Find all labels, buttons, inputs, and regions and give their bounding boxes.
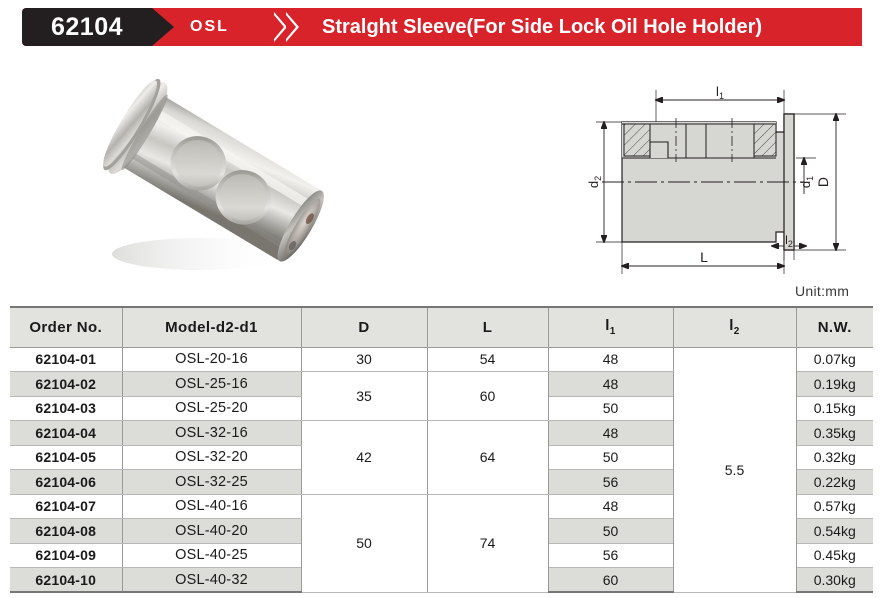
cell-order-no: 62104-06 (10, 470, 122, 495)
specification-table: Order No. Model-d2-d1 D L l1 l2 N.W. 621… (10, 306, 873, 593)
dim-label-L: L (700, 249, 708, 265)
cell-nw: 0.45kg (796, 543, 873, 568)
cell-nw: 0.07kg (796, 347, 873, 372)
col-header-order-no: Order No. (10, 307, 122, 347)
badge-arrow-point (152, 8, 174, 46)
cell-nw: 0.54kg (796, 519, 873, 544)
cell-d: 50 (301, 494, 427, 592)
col-header-l: L (427, 307, 548, 347)
cell-l1: 50 (548, 396, 673, 421)
table-body: 62104-01OSL-20-163054485.50.07kg62104-02… (10, 347, 873, 592)
dim-label-l1: l1 (716, 84, 724, 101)
cell-l1: 48 (548, 494, 673, 519)
cell-d: 35 (301, 372, 427, 421)
cell-nw: 0.19kg (796, 372, 873, 397)
cell-model: OSL-40-32 (122, 568, 301, 593)
cell-model: OSL-32-20 (122, 445, 301, 470)
cell-l2: 5.5 (673, 347, 796, 592)
cell-order-no: 62104-10 (10, 568, 122, 593)
cell-model: OSL-25-16 (122, 372, 301, 397)
cell-order-no: 62104-07 (10, 494, 122, 519)
cell-l1: 48 (548, 347, 673, 372)
product-photo (70, 58, 370, 290)
dim-label-d2: d2 (588, 176, 603, 188)
cell-l: 54 (427, 347, 548, 372)
col-header-l2: l2 (673, 307, 796, 347)
technical-drawing: l1 d2 d1 D L l2 (588, 82, 883, 282)
dim-label-D: D (815, 177, 831, 187)
cell-l1: 56 (548, 543, 673, 568)
cell-order-no: 62104-08 (10, 519, 122, 544)
cell-model: OSL-32-25 (122, 470, 301, 495)
chevron-separator-icon (274, 12, 314, 42)
table-header-row: Order No. Model-d2-d1 D L l1 l2 N.W. (10, 307, 873, 347)
cell-nw: 0.22kg (796, 470, 873, 495)
product-series: OSL (190, 8, 229, 46)
product-header-bar: 62104 OSL Stralght Sleeve(For Side Lock … (22, 8, 862, 46)
cell-d: 42 (301, 421, 427, 495)
cell-l1: 50 (548, 519, 673, 544)
cell-l1: 48 (548, 372, 673, 397)
cell-nw: 0.30kg (796, 568, 873, 593)
cell-d: 30 (301, 347, 427, 372)
cell-l: 64 (427, 421, 548, 495)
cell-l: 74 (427, 494, 548, 592)
unit-label: Unit:mm (795, 283, 849, 299)
cell-model: OSL-32-16 (122, 421, 301, 446)
cell-l: 60 (427, 372, 548, 421)
cell-l1: 48 (548, 421, 673, 446)
dim-label-d1: d1 (798, 176, 815, 188)
cell-order-no: 62104-05 (10, 445, 122, 470)
cell-order-no: 62104-01 (10, 347, 122, 372)
cell-model: OSL-40-16 (122, 494, 301, 519)
cell-model: OSL-40-20 (122, 519, 301, 544)
cell-model: OSL-25-20 (122, 396, 301, 421)
cell-order-no: 62104-03 (10, 396, 122, 421)
cell-order-no: 62104-04 (10, 421, 122, 446)
cell-nw: 0.15kg (796, 396, 873, 421)
cell-nw: 0.35kg (796, 421, 873, 446)
col-header-l1: l1 (548, 307, 673, 347)
table-row: 62104-01OSL-20-163054485.50.07kg (10, 347, 873, 372)
cell-order-no: 62104-09 (10, 543, 122, 568)
cell-order-no: 62104-02 (10, 372, 122, 397)
cell-l1: 56 (548, 470, 673, 495)
cell-l1: 50 (548, 445, 673, 470)
product-title: Stralght Sleeve(For Side Lock Oil Hole H… (322, 8, 762, 46)
product-code: 62104 (22, 8, 152, 46)
col-header-model: Model-d2-d1 (122, 307, 301, 347)
cell-nw: 0.32kg (796, 445, 873, 470)
cell-nw: 0.57kg (796, 494, 873, 519)
col-header-nw: N.W. (796, 307, 873, 347)
cell-l1: 60 (548, 568, 673, 593)
catalog-page: 62104 OSL Stralght Sleeve(For Side Lock … (0, 0, 883, 598)
cell-model: OSL-40-25 (122, 543, 301, 568)
cell-model: OSL-20-16 (122, 347, 301, 372)
col-header-d: D (301, 307, 427, 347)
